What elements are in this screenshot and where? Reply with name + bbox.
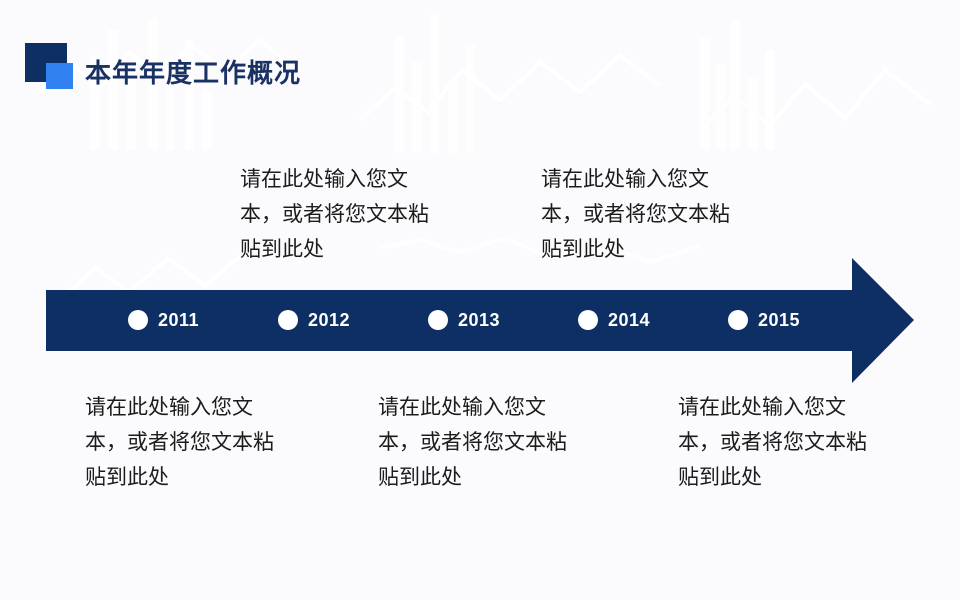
milestone-year-label: 2015 <box>758 310 800 331</box>
timeline-milestone[interactable]: 2014 <box>578 308 650 332</box>
logo-square-blue <box>46 63 73 89</box>
milestone-dot-icon <box>278 310 298 330</box>
timeline-milestone[interactable]: 2012 <box>278 308 350 332</box>
milestone-dot-icon <box>578 310 598 330</box>
timeline-note-bottom[interactable]: 请在此处输入您文本，或者将您文本粘贴到此处 <box>678 390 878 495</box>
milestone-dot-icon <box>128 310 148 330</box>
milestone-year-label: 2011 <box>158 310 199 331</box>
milestone-year-label: 2013 <box>458 310 500 331</box>
timeline-note-top[interactable]: 请在此处输入您文本，或者将您文本粘贴到此处 <box>240 162 440 267</box>
timeline-milestone[interactable]: 2013 <box>428 308 500 332</box>
header-logo-mark <box>25 43 73 89</box>
slide-canvas: 本年年度工作概况 2011 2012 2013 2014 2015 请在此处输入… <box>0 0 960 600</box>
page-title: 本年年度工作概况 <box>85 53 301 90</box>
milestone-dot-icon <box>428 310 448 330</box>
timeline-note-bottom[interactable]: 请在此处输入您文本，或者将您文本粘贴到此处 <box>378 390 578 495</box>
milestone-year-label: 2014 <box>608 310 650 331</box>
timeline-note-top[interactable]: 请在此处输入您文本，或者将您文本粘贴到此处 <box>541 162 741 267</box>
milestone-dot-icon <box>728 310 748 330</box>
timeline-milestone[interactable]: 2015 <box>728 308 800 332</box>
timeline-milestone[interactable]: 2011 <box>128 308 199 332</box>
milestone-year-label: 2012 <box>308 310 350 331</box>
timeline-note-bottom[interactable]: 请在此处输入您文本，或者将您文本粘贴到此处 <box>85 390 285 495</box>
